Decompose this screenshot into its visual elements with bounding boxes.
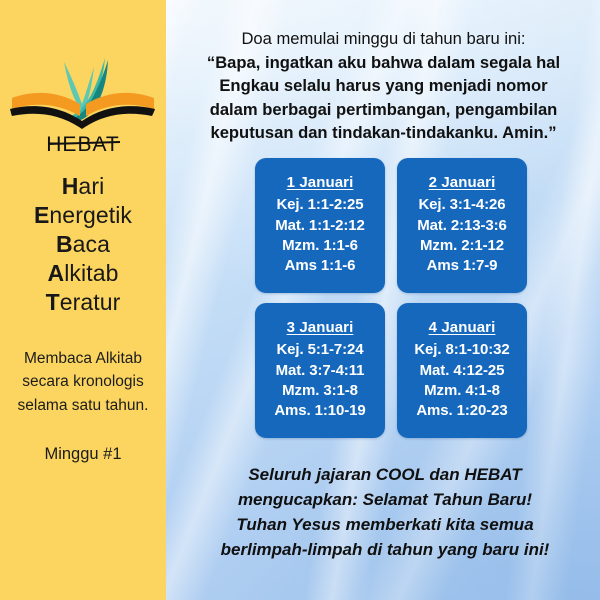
greeting-line-1: Seluruh jajaran COOL dan HEBAT xyxy=(180,462,590,487)
acronym-cap-b: B xyxy=(56,231,73,257)
card-reading: Ams 1:1-6 xyxy=(285,256,356,276)
card-date: 1 Januari xyxy=(287,174,354,191)
card-reading: Mat. 2:13-3:6 xyxy=(417,216,507,236)
card-date: 3 Januari xyxy=(287,319,354,336)
reading-card-3-januari[interactable]: 3 Januari Kej. 5:1-7:24 Mat. 3:7-4:11 Mz… xyxy=(255,303,385,438)
acronym-line-baca: Baca xyxy=(8,230,158,259)
card-reading: Mat. 1:1-2:12 xyxy=(275,216,365,236)
card-reading: Kej. 8:1-10:32 xyxy=(414,340,509,360)
reading-card-1-januari[interactable]: 1 Januari Kej. 1:1-2:25 Mat. 1:1-2:12 Mz… xyxy=(255,158,385,293)
prayer-line-5: keputusan dan tindakan-tindakanku. Amin.… xyxy=(176,121,591,145)
yellow-sidebar-panel: HEBAT Hari Energetik Baca Alkitab Teratu… xyxy=(0,0,166,600)
prayer-line-4: dalam berbagai pertimbangan, pengambilan xyxy=(176,98,591,122)
acronym-rest-energetik: nergetik xyxy=(49,202,132,228)
acronym-line-hari: Hari xyxy=(8,172,158,201)
card-reading: Mzm. 4:1-8 xyxy=(424,381,500,401)
acronym-rest-hari: ari xyxy=(78,173,104,199)
greeting-footer: Seluruh jajaran COOL dan HEBAT mengucapk… xyxy=(180,462,590,563)
card-reading: Mzm. 3:1-8 xyxy=(282,381,358,401)
card-reading: Kej. 3:1-4:26 xyxy=(418,195,505,215)
greeting-line-2: mengucapkan: Selamat Tahun Baru! xyxy=(180,487,590,512)
poster-canvas: HEBAT Hari Energetik Baca Alkitab Teratu… xyxy=(0,0,600,600)
acronym-line-energetik: Energetik xyxy=(8,201,158,230)
acronym-cap-a: A xyxy=(47,260,64,286)
prayer-line-3: Engkau selalu harus yang menjadi nomor xyxy=(176,74,591,98)
sidebar-description: Membaca Alkitab secara kronologis selama… xyxy=(10,347,156,418)
card-reading: Ams 1:7-9 xyxy=(427,256,498,276)
prayer-line-2: “Bapa, ingatkan aku bahwa dalam segala h… xyxy=(176,51,591,75)
card-reading: Mzm. 2:1-12 xyxy=(420,236,504,256)
card-reading: Mat. 3:7-4:11 xyxy=(276,361,365,381)
prayer-header: Doa memulai minggu di tahun baru ini: “B… xyxy=(176,27,591,145)
open-book-with-bird-logo: HEBAT xyxy=(8,46,158,158)
acronym-cap-h: H xyxy=(62,173,79,199)
acronym-rest-baca: aca xyxy=(73,231,110,257)
acronym-line-alkitab: Alkitab xyxy=(8,259,158,288)
greeting-line-4: berlimpah-limpah di tahun yang baru ini! xyxy=(180,537,590,562)
card-reading: Ams. 1:20-23 xyxy=(416,401,507,421)
sidebar-week-label: Minggu #1 xyxy=(10,443,156,466)
prayer-line-1: Doa memulai minggu di tahun baru ini: xyxy=(176,27,591,51)
card-reading: Mzm. 1:1-6 xyxy=(282,236,358,256)
hebat-logo: HEBAT xyxy=(8,46,158,158)
acronym-line-teratur: Teratur xyxy=(8,288,158,317)
acronym-rest-alkitab: lkitab xyxy=(64,260,118,286)
card-reading: Ams. 1:10-19 xyxy=(274,401,365,421)
acronym-cap-t: T xyxy=(46,289,60,315)
acronym-rest-teratur: eratur xyxy=(60,289,121,315)
acronym-cap-e: E xyxy=(34,202,49,228)
card-reading: Kej. 1:1-2:25 xyxy=(276,195,363,215)
greeting-line-3: Tuhan Yesus memberkati kita semua xyxy=(180,512,590,537)
card-reading: Mat. 4:12-25 xyxy=(420,361,505,381)
card-date: 2 Januari xyxy=(429,174,496,191)
reading-plan-grid: 1 Januari Kej. 1:1-2:25 Mat. 1:1-2:12 Mz… xyxy=(255,158,527,438)
reading-card-2-januari[interactable]: 2 Januari Kej. 3:1-4:26 Mat. 2:13-3:6 Mz… xyxy=(397,158,527,293)
reading-card-4-januari[interactable]: 4 Januari Kej. 8:1-10:32 Mat. 4:12-25 Mz… xyxy=(397,303,527,438)
card-date: 4 Januari xyxy=(429,319,496,336)
card-reading: Kej. 5:1-7:24 xyxy=(276,340,363,360)
hebat-acronym-block: Hari Energetik Baca Alkitab Teratur xyxy=(8,172,158,317)
